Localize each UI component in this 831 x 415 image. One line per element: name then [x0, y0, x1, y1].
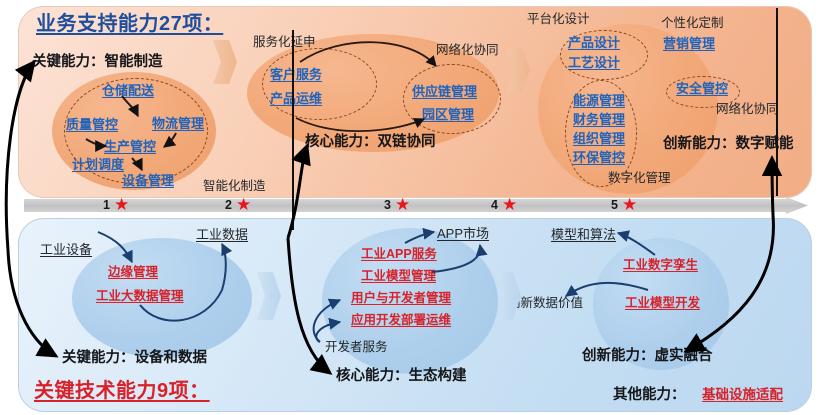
step-number-3: 3	[384, 198, 391, 212]
orange-dashed-2b	[403, 64, 501, 134]
step-star-4: ★	[502, 196, 517, 213]
bottom-g1-capability: 关键能力：设备和数据	[62, 351, 207, 366]
top-g3-label-left: 平台化设计	[527, 13, 590, 26]
bottom-g2-label-top: APP市场	[437, 227, 489, 240]
bottom-g3-capability: 创新能力：虚实融合	[582, 349, 713, 364]
top-g3-item-marketing: 营销管理	[663, 37, 715, 50]
top-g3-label-bottom: 数字化管理	[608, 172, 671, 185]
top-g3-item-manage-3: 环保管控	[573, 151, 625, 164]
bottom-g1-item-1: 工业大数据管理	[96, 290, 184, 303]
top-g2-item-left-0: 客户服务	[270, 68, 322, 81]
diagram-canvas: 业务支持能力27项： 关键能力：智能制造 仓储配送 质量管控 物流管理 生产管控…	[0, 0, 831, 415]
bottom-g3-other-value: 基础设施适配	[702, 388, 783, 402]
bottom-g2-item-3: 应用开发部署运维	[351, 314, 451, 327]
bottom-g1-label-right: 工业数据	[196, 228, 248, 241]
top-g3-item-manage-2: 组织管理	[573, 132, 625, 145]
bottom-g1-label-left: 工业设备	[40, 243, 92, 256]
top-g1-outside-label: 智能化制造	[203, 180, 266, 193]
top-g3-capability: 创新能力：数字赋能	[663, 137, 794, 152]
bottom-g3-label-left: 创新数据价值	[508, 297, 583, 310]
step-number-4: 4	[491, 198, 498, 212]
bottom-g2-item-2: 用户与开发者管理	[351, 292, 451, 305]
timeline-arrow-bar	[24, 197, 808, 214]
top-g3-item-design-1: 工艺设计	[568, 56, 620, 69]
bottom-g1-item-0: 边缘管理	[108, 266, 158, 279]
step-number-5: 5	[611, 198, 618, 212]
top-g3-item-manage-1: 财务管理	[573, 113, 625, 126]
bottom-g3-item-0: 工业数字孪生	[623, 259, 698, 272]
top-g2-label-right: 网络化协同	[436, 44, 499, 57]
top-g2-item-right-0: 供应链管理	[412, 85, 477, 98]
top-g1-item-3: 生产管控	[104, 140, 156, 153]
step-number-1: 1	[103, 198, 110, 212]
top-g1-item-4: 计划调度	[72, 158, 124, 171]
top-g3-item-design-0: 产品设计	[568, 36, 620, 49]
step-star-1: ★	[114, 196, 129, 213]
step-star-3: ★	[395, 196, 410, 213]
orange-dashed-2a	[262, 48, 377, 120]
top-g2-capability: 核心能力：双链协同	[305, 135, 436, 150]
bottom-g3-label-top: 模型和算法	[551, 228, 616, 241]
top-g3-label-top: 个性化定制	[661, 17, 724, 30]
top-g1-item-5: 设备管理	[122, 174, 174, 187]
step-number-2: 2	[225, 198, 232, 212]
top-g1-item-2: 物流管理	[152, 117, 204, 130]
top-panel-title: 业务支持能力27项：	[36, 14, 223, 34]
top-g3-item-manage-0: 能源管理	[573, 94, 625, 107]
bottom-g2-capability: 核心能力：生态构建	[336, 369, 467, 384]
step-star-5: ★	[622, 196, 637, 213]
top-g2-item-left-1: 产品运维	[270, 92, 322, 105]
top-g2-label-left: 服务化延申	[253, 36, 316, 49]
top-g3-label-right: 网络化协同	[716, 103, 779, 116]
bottom-panel-title: 关键技术能力9项：	[34, 381, 210, 401]
top-g1-item-0: 仓储配送	[102, 84, 154, 97]
top-g1-item-1: 质量管控	[66, 118, 118, 131]
top-g3-item-security: 安全管控	[676, 82, 728, 95]
bottom-g2-item-0: 工业APP服务	[361, 248, 437, 261]
top-g2-item-right-1: 园区管理	[422, 108, 474, 121]
top-g1-capability: 关键能力：智能制造	[32, 55, 163, 70]
bottom-g3-other-label: 其他能力：	[613, 388, 686, 403]
bottom-g2-label-bottom: 开发者服务	[325, 341, 388, 354]
bottom-g2-item-1: 工业模型管理	[361, 270, 436, 283]
step-star-2: ★	[236, 196, 251, 213]
bottom-g3-item-1: 工业模型开发	[625, 297, 700, 310]
